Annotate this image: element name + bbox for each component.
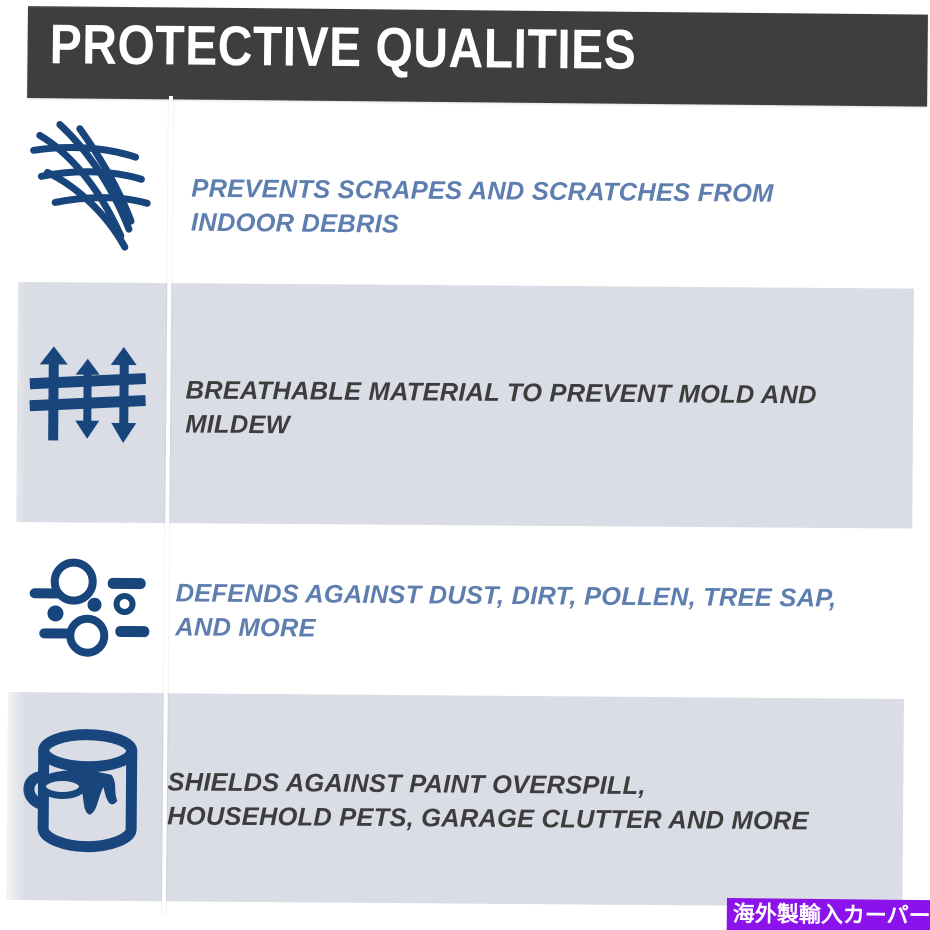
fabric-weave-icon: [25, 110, 156, 261]
breathable-airflow-arrows-icon: [23, 338, 152, 460]
protective-qualities-infographic: PROTECTIVE QUALITIES PREVENTS SCRAPES AN…: [0, 0, 930, 930]
status-badge: 海外製輸入カーパーツ: [727, 898, 930, 930]
feature-text-3: DEFENDS AGAINST DUST, DIRT, POLLEN, TREE…: [175, 576, 836, 649]
header-bar: PROTECTIVE QUALITIES: [27, 6, 928, 107]
feature-text-4: SHIELDS AGAINST PAINT OVERSPILL, HOUSEHO…: [167, 765, 809, 838]
page-title: PROTECTIVE QUALITIES: [49, 12, 636, 82]
feature-row-1: PREVENTS SCRAPES AND SCRATCHES FROM INDO…: [0, 108, 930, 116]
dust-particles-icon: [21, 555, 152, 665]
feature-text-1: PREVENTS SCRAPES AND SCRATCHES FROM INDO…: [191, 172, 774, 245]
paint-can-icon: [17, 724, 150, 864]
feature-text-2: BREATHABLE MATERIAL TO PREVENT MOLD AND …: [185, 373, 817, 446]
feature-row-3: DEFENDS AGAINST DUST, DIRT, POLLEN, TREE…: [0, 545, 930, 552]
